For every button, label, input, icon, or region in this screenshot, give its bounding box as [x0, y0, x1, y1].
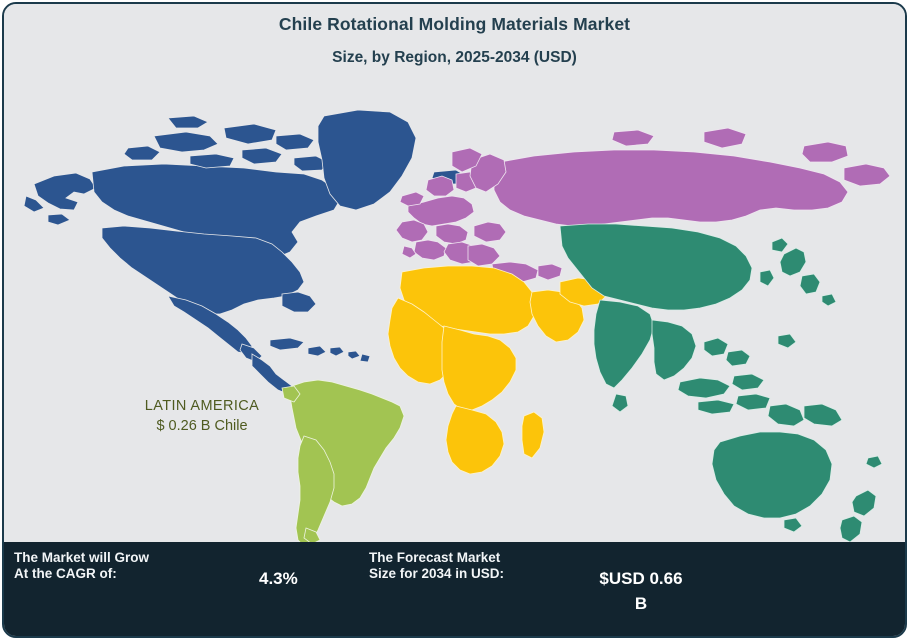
- stat-cagr-label: The Market will Grow At the CAGR of:: [14, 550, 149, 581]
- page-title: Chile Rotational Molding Materials Marke…: [4, 14, 905, 35]
- stat-forecast-value: $USD 0.66 B: [591, 567, 691, 616]
- stat-cagr-value: 4.3%: [259, 567, 379, 592]
- world-map-svg: [4, 76, 907, 546]
- stat-forecast: The Forecast Market Size for 2034 in USD…: [369, 550, 504, 581]
- page-subtitle: Size, by Region, 2025-2034 (USD): [4, 49, 905, 68]
- infographic-frame: Chile Rotational Molding Materials Marke…: [2, 2, 907, 638]
- map-panel: Chile Rotational Molding Materials Marke…: [4, 4, 905, 550]
- region-latin-america[interactable]: [282, 380, 404, 546]
- stat-cagr: The Market will Grow At the CAGR of: 4.3…: [14, 550, 149, 581]
- chart-header: Chile Rotational Molding Materials Marke…: [4, 14, 905, 68]
- footer-stats-bar: The Market will Grow At the CAGR of: 4.3…: [4, 542, 905, 636]
- region-middle-east-africa[interactable]: [388, 266, 606, 474]
- world-map: [4, 76, 907, 546]
- region-asia-pacific[interactable]: [560, 224, 882, 542]
- stat-forecast-label: The Forecast Market Size for 2034 in USD…: [369, 550, 504, 581]
- infographic-root: Chile Rotational Molding Materials Marke…: [0, 0, 913, 640]
